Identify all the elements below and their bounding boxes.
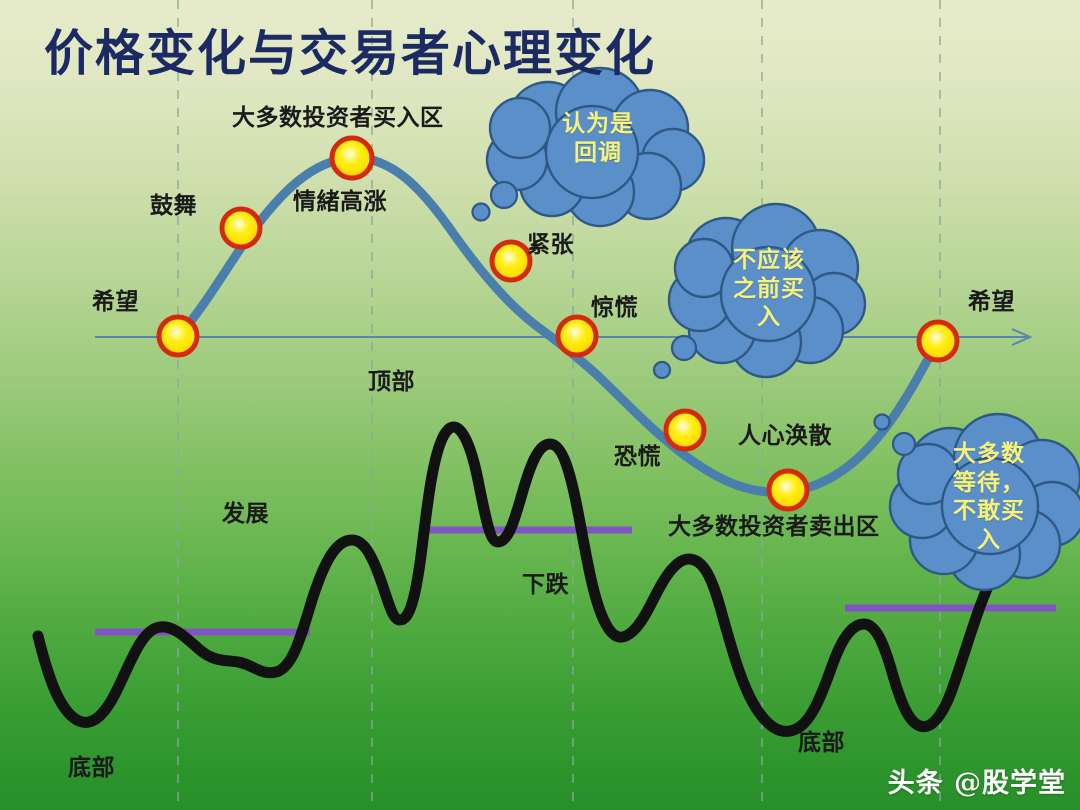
label-decline: 下跌 (522, 573, 569, 599)
marker-alarmed (558, 317, 596, 355)
diagram-canvas: 价格变化与交易者心理变化 希望 鼓舞 情緒高涨 大多数投资者买入区 紧张 惊慌 … (0, 0, 1080, 810)
label-growth: 发展 (222, 502, 269, 528)
label-majority-sell-zone: 大多数投资者卖出区 (668, 515, 880, 541)
marker-panic (666, 411, 704, 449)
label-majority-buy-zone: 大多数投资者买入区 (232, 106, 444, 132)
label-nervous: 紧张 (527, 233, 574, 259)
label-alarmed: 惊慌 (591, 296, 638, 322)
label-bottom-left: 底部 (68, 756, 115, 782)
marker-despair (769, 471, 807, 509)
label-bottom-right: 底部 (798, 731, 845, 757)
label-hope-left: 希望 (92, 290, 139, 316)
watermark: 头条 @股学堂 (888, 761, 1066, 800)
page-title: 价格变化与交易者心理变化 (44, 14, 656, 85)
cloud-tail-bubbles (654, 336, 696, 378)
marker-hope-left (159, 317, 197, 355)
cloud-majority-waiting (875, 414, 1080, 590)
label-hope-right: 希望 (968, 290, 1015, 316)
diagram-svg (0, 0, 1080, 810)
marker-nervous (492, 242, 530, 280)
cloud-pullback (473, 68, 705, 226)
cloud-tail-bubbles (473, 182, 518, 221)
label-encouraged: 鼓舞 (150, 194, 197, 220)
marker-high-spirits (332, 138, 372, 178)
label-panic: 恐慌 (614, 445, 661, 471)
marker-hope-right (919, 322, 957, 360)
label-despair: 人心涣散 (738, 424, 832, 450)
cloud-should-not-have-bought (654, 204, 865, 378)
marker-encouraged (222, 209, 260, 247)
label-high-spirits: 情緒高涨 (293, 190, 387, 216)
label-top: 顶部 (368, 370, 415, 396)
